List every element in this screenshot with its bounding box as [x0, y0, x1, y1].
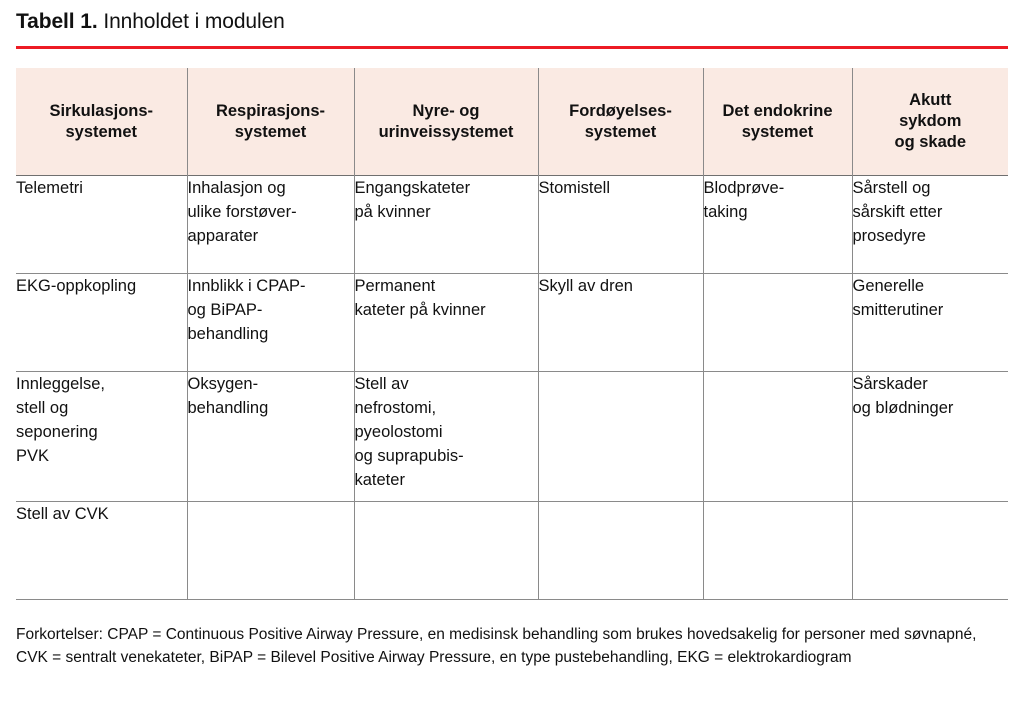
table-cell: Engangskateter på kvinner [354, 176, 538, 274]
cell-text: Inhalasjon og ulike forstøver- apparater [188, 179, 297, 245]
table-cell [703, 372, 852, 502]
table-body: Telemetri Inhalasjon og ulike forstøver-… [16, 176, 1008, 600]
cell-text: Permanent kateter på kvinner [355, 277, 486, 319]
table-cell: Inhalasjon og ulike forstøver- apparater [187, 176, 354, 274]
table-cell [852, 502, 1008, 600]
table-container: Sirkulasjons- systemet Respirasjons- sys… [16, 68, 1008, 600]
column-header-label: Respirasjons- systemet [216, 101, 325, 143]
cell-text: EKG-oppkopling [16, 277, 136, 295]
table-row: EKG-oppkopling Innblikk i CPAP- og BiPAP… [16, 274, 1008, 372]
table-footnote: Forkortelser: CPAP = Continuous Positive… [16, 623, 996, 669]
column-header-akutt-sykdom-og-skade: Akutt sykdom og skade [852, 68, 1008, 176]
column-header-nyre-og-urinveissystemet: Nyre- og urinveissystemet [354, 68, 538, 176]
table-row: Telemetri Inhalasjon og ulike forstøver-… [16, 176, 1008, 274]
table-cell: Innleggelse, stell og seponering PVK [16, 372, 187, 502]
cell-text: Engangskateter på kvinner [355, 179, 471, 221]
table-row: Innleggelse, stell og seponering PVK Oks… [16, 372, 1008, 502]
table-cell [703, 274, 852, 372]
table-cell [538, 372, 703, 502]
cell-text: Stell av CVK [16, 505, 109, 523]
cell-text: Sårstell og sårskift etter prosedyre [853, 179, 943, 245]
cell-text: Sårskader og blødninger [853, 375, 954, 417]
table-cell: Innblikk i CPAP- og BiPAP- behandling [187, 274, 354, 372]
cell-text: Telemetri [16, 179, 83, 197]
column-header-fordoyelsessystemet: Fordøyelses- systemet [538, 68, 703, 176]
column-header-label: Det endokrine systemet [722, 101, 832, 143]
table-cell [538, 502, 703, 600]
table-row: Stell av CVK [16, 502, 1008, 600]
column-header-respirasjonssystemet: Respirasjons- systemet [187, 68, 354, 176]
cell-text: Skyll av dren [539, 277, 633, 295]
table-header-row: Sirkulasjons- systemet Respirasjons- sys… [16, 68, 1008, 176]
content-table: Sirkulasjons- systemet Respirasjons- sys… [16, 68, 1008, 600]
column-header-det-endokrine-systemet: Det endokrine systemet [703, 68, 852, 176]
table-cell [187, 502, 354, 600]
table-cell: Stomistell [538, 176, 703, 274]
table-cell [354, 502, 538, 600]
table-cell: EKG-oppkopling [16, 274, 187, 372]
column-header-label: Sirkulasjons- systemet [49, 101, 153, 143]
column-header-label: Fordøyelses- systemet [569, 101, 672, 143]
column-header-label: Nyre- og urinveissystemet [379, 101, 514, 143]
cell-text: Stell av nefrostomi, pyeolostomi og supr… [355, 375, 464, 489]
cell-text: Innblikk i CPAP- og BiPAP- behandling [188, 277, 306, 343]
table-cell: Blodprøve- taking [703, 176, 852, 274]
table-cell [703, 502, 852, 600]
table-header: Sirkulasjons- systemet Respirasjons- sys… [16, 68, 1008, 176]
table-cell: Stell av CVK [16, 502, 187, 600]
cell-text: Stomistell [539, 179, 611, 197]
table-cell: Telemetri [16, 176, 187, 274]
cell-text: Blodprøve- taking [704, 179, 785, 221]
page-title: Tabell 1. Innholdet i modulen [16, 7, 285, 37]
table-cell: Sårstell og sårskift etter prosedyre [852, 176, 1008, 274]
table-number-label: Tabell 1. [16, 10, 98, 33]
cell-text: Oksygen- behandling [188, 375, 269, 417]
cell-text: Innleggelse, stell og seponering PVK [16, 375, 105, 465]
cell-text: Generelle smitterutiner [853, 277, 944, 319]
table-cell: Stell av nefrostomi, pyeolostomi og supr… [354, 372, 538, 502]
table-caption-label: Innholdet i modulen [103, 10, 284, 33]
title-red-rule [16, 46, 1008, 49]
table-cell: Generelle smitterutiner [852, 274, 1008, 372]
table-cell: Oksygen- behandling [187, 372, 354, 502]
column-header-sirkulasjonssystemet: Sirkulasjons- systemet [16, 68, 187, 176]
table-cell: Sårskader og blødninger [852, 372, 1008, 502]
table-cell: Skyll av dren [538, 274, 703, 372]
column-header-label: Akutt sykdom og skade [894, 90, 966, 153]
table-page: Tabell 1. Innholdet i modulen Sirkulasjo… [0, 0, 1024, 720]
table-cell: Permanent kateter på kvinner [354, 274, 538, 372]
